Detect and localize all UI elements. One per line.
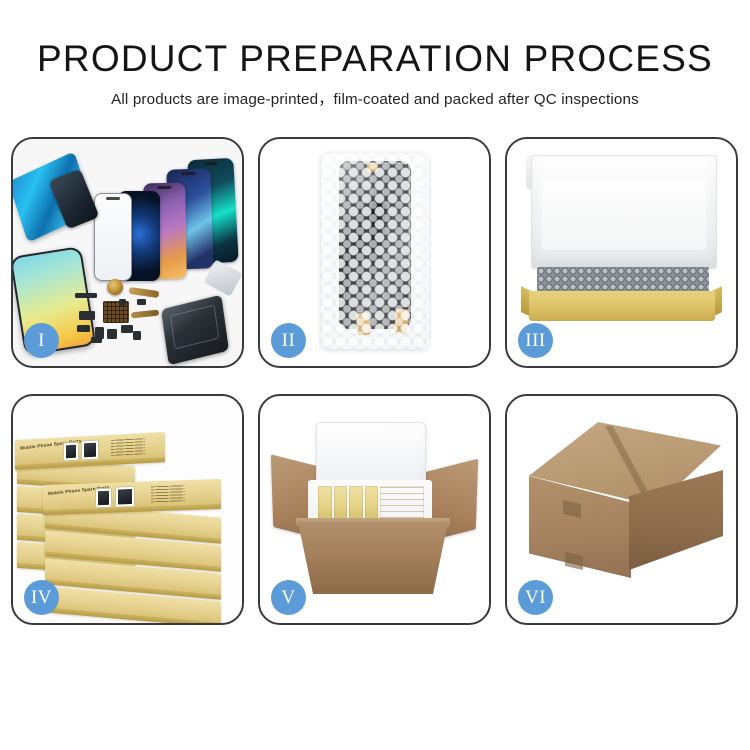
step-badge-2: II <box>271 323 306 358</box>
process-step-panel-1[interactable]: I <box>11 137 244 368</box>
box-label-front: Mobile Phone Spare Parts <box>43 479 221 515</box>
small-part <box>119 299 126 306</box>
process-step-panel-3[interactable]: III <box>505 137 738 368</box>
screen-protector-glass <box>94 193 132 281</box>
page-header: PRODUCT PREPARATION PROCESS All products… <box>0 0 750 109</box>
small-part <box>137 299 146 305</box>
process-step-grid: I II <box>11 137 739 625</box>
box-label-rear: Mobile Phone Spare Parts <box>15 432 165 470</box>
plastic-sheen <box>321 153 429 349</box>
small-part <box>75 293 97 298</box>
flex-cable-b <box>131 310 159 319</box>
label-window-right <box>115 486 135 508</box>
page-subtitle: All products are image-printed，film-coat… <box>0 87 750 109</box>
small-part <box>77 325 90 332</box>
small-part <box>91 337 102 343</box>
small-part <box>133 331 141 340</box>
notch-icon <box>106 197 120 200</box>
process-step-panel-5[interactable]: V <box>258 394 491 625</box>
camera-module-icon <box>107 279 123 295</box>
spare-parts-cluster <box>75 277 205 347</box>
box-layer-labelled-rear: Mobile Phone Spare Parts <box>15 432 165 470</box>
small-part <box>79 311 95 320</box>
process-step-panel-2[interactable]: II <box>258 137 491 368</box>
box-lid-back <box>531 155 717 269</box>
notch-icon <box>157 186 171 189</box>
label-window-left <box>63 442 79 462</box>
label-spec-lines <box>151 485 185 502</box>
carton-front-panel <box>298 522 448 594</box>
small-part <box>107 329 117 339</box>
box-front-panel <box>529 291 715 321</box>
page-title: PRODUCT PREPARATION PROCESS <box>0 38 750 80</box>
label-spec-lines <box>111 438 145 456</box>
flex-cable-a <box>129 287 160 298</box>
label-window-left <box>95 488 112 509</box>
step-badge-1: I <box>24 323 59 358</box>
process-step-panel-6[interactable]: VI <box>505 394 738 625</box>
notch-icon <box>203 162 217 166</box>
step-badge-3: III <box>518 323 553 358</box>
box-layer-labelled-front: Mobile Phone Spare Parts <box>43 479 221 515</box>
notch-icon <box>181 172 195 175</box>
step-badge-5: V <box>271 580 306 615</box>
white-foam-sheet <box>542 180 706 250</box>
small-part <box>121 325 133 333</box>
grey-bubble-foam <box>537 267 709 293</box>
label-window-right <box>81 440 99 461</box>
step-badge-6: VI <box>518 580 553 615</box>
process-step-panel-4[interactable]: Mobile Phone Spare Parts Mobile Phone Sp… <box>11 394 244 625</box>
step-badge-4: IV <box>24 580 59 615</box>
bubble-wrap-bag <box>321 153 429 349</box>
